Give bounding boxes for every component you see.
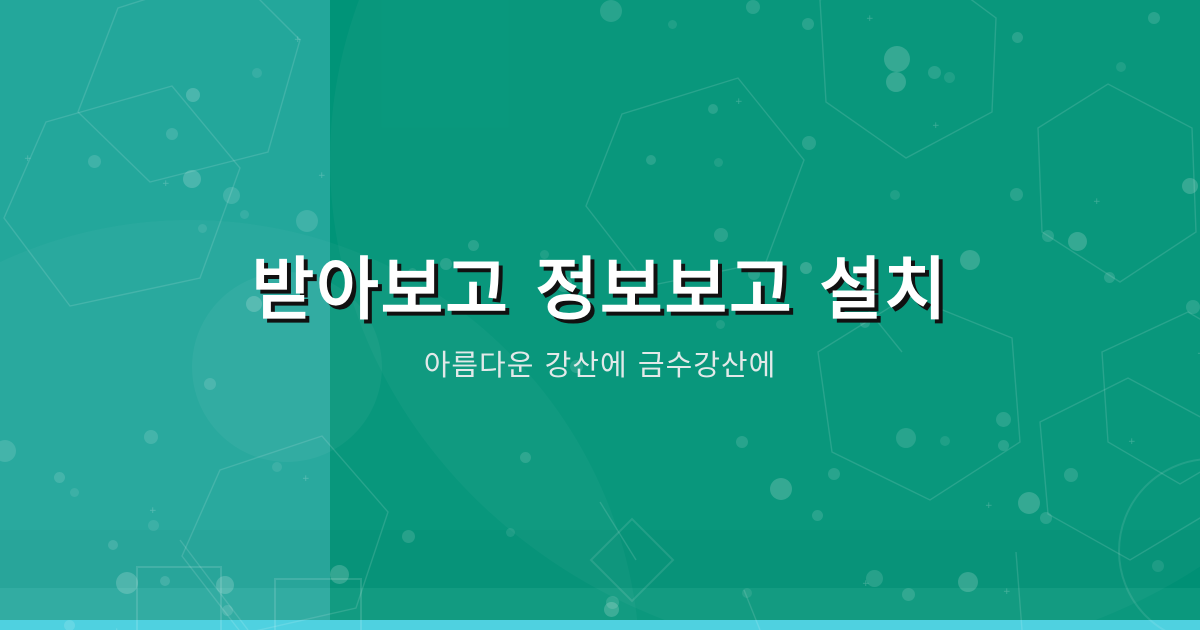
banner-text-block: 받아보고 정보보고 설치 아름다운 강산에 금수강산에 xyxy=(0,0,1200,630)
banner-headline: 받아보고 정보보고 설치 xyxy=(252,254,949,327)
banner-canvas: + + + + + + + + + + + + + + + + 받아보고 정보보… xyxy=(0,0,1200,630)
banner-subtitle: 아름다운 강산에 금수강산에 xyxy=(424,342,777,384)
